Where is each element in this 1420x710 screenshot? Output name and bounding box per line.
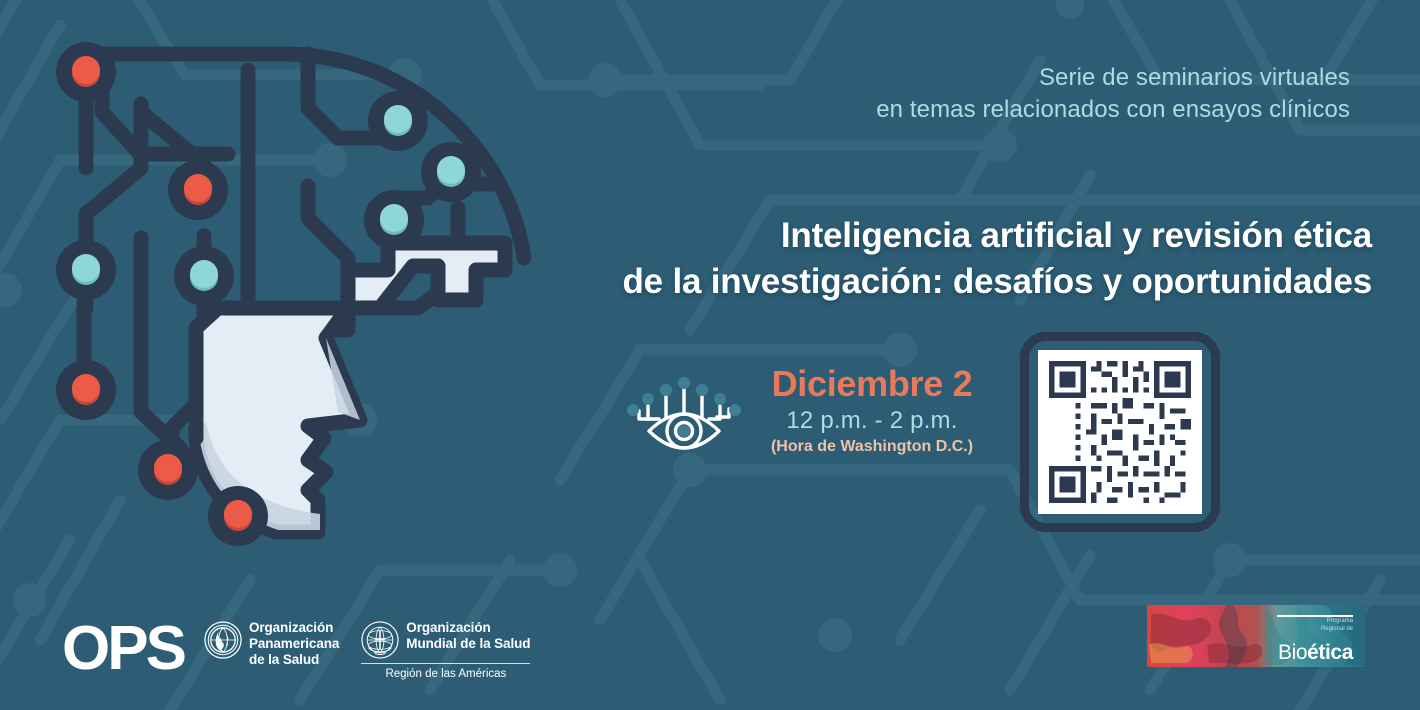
- event-time: 12 p.m. - 2 p.m.: [747, 406, 997, 436]
- paho-organization-name: Organización Panamericana de la Salud: [249, 620, 339, 667]
- bioetica-divider: [1277, 615, 1353, 617]
- qr-code[interactable]: [1038, 350, 1202, 514]
- who-seal-icon: [361, 621, 399, 659]
- who-organization-name: Organización Mundial de la Salud: [406, 620, 530, 651]
- paho-logo-lockup: OPS Organización Panamericana de la Salu…: [62, 620, 530, 682]
- eye-circuit-icon: [625, 369, 743, 461]
- paho-organization-unit: Organización Panamericana de la Salud: [204, 620, 339, 667]
- bioetica-wordmark: Bioética: [1278, 642, 1353, 663]
- ops-wordmark: OPS: [62, 621, 184, 677]
- bioetica-program-line: Programa Regional de: [1321, 618, 1353, 633]
- page-title: Inteligencia artificial y revisión ética…: [512, 213, 1372, 304]
- who-region-label: Región de las Américas: [361, 663, 530, 682]
- poster-canvas: Serie de seminarios virtuales en temas r…: [0, 0, 1420, 710]
- event-date-text: Diciembre 2 12 p.m. - 2 p.m. (Hora de Wa…: [747, 365, 997, 456]
- qr-code-frame[interactable]: [1020, 332, 1220, 532]
- event-date-block: Diciembre 2 12 p.m. - 2 p.m. (Hora de Wa…: [625, 365, 1005, 470]
- bioetica-suffix: ética: [1307, 641, 1353, 664]
- event-timezone: (Hora de Washington D.C.): [747, 437, 997, 456]
- bioetica-prefix: Bio: [1278, 641, 1307, 664]
- series-subtitle: Serie de seminarios virtuales en temas r…: [590, 62, 1350, 125]
- event-date: Diciembre 2: [747, 365, 997, 404]
- bioetica-program-logo[interactable]: Programa Regional de Bioética: [1147, 605, 1365, 667]
- who-organization-unit: Organización Mundial de la Salud Región …: [361, 620, 530, 682]
- paho-seal-icon: [204, 621, 242, 659]
